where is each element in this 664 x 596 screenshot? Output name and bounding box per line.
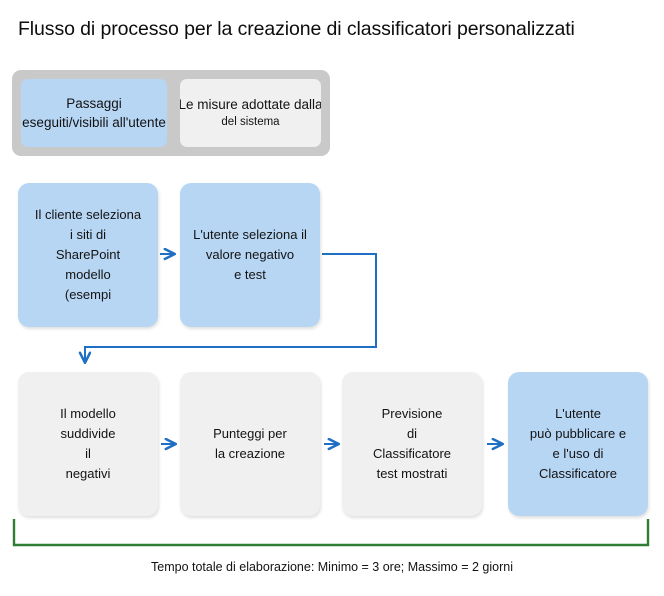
process-line: Classificatore (373, 444, 451, 464)
process-line: e test (234, 265, 266, 285)
process-line: la creazione (215, 444, 285, 464)
process-box-select-sites: Il cliente seleziona i siti di SharePoin… (18, 183, 158, 327)
process-line: può pubblicare e (530, 424, 626, 444)
process-line: Il modello (60, 404, 116, 424)
process-flow-diagram: Flusso di processo per la creazione di c… (0, 0, 664, 596)
legend-user-line-2: eseguiti/visibili all'utente (22, 113, 166, 132)
process-box-prediction: Previsione di Classificatore test mostra… (342, 372, 482, 516)
legend-item-system-steps: Le misure adottate dalla del sistema (180, 79, 321, 147)
process-line: il (85, 444, 91, 464)
total-time-caption: Tempo totale di elaborazione: Minimo = 3… (0, 560, 664, 574)
legend-system-line-2: del sistema (221, 114, 279, 131)
legend-user-line-1: Passaggi (66, 94, 122, 113)
process-box-scores: Punteggi per la creazione (180, 372, 320, 516)
process-line: modello (65, 265, 111, 285)
process-line: L'utente (555, 404, 601, 424)
process-line: L'utente seleziona il (193, 225, 307, 245)
process-line: e l'uso di (553, 444, 604, 464)
legend-system-line-1: Le misure adottate dalla (180, 95, 321, 114)
process-line: suddivide (61, 424, 116, 444)
legend-container: Passaggi eseguiti/visibili all'utente Le… (12, 70, 330, 156)
page-title: Flusso di processo per la creazione di c… (18, 18, 648, 41)
process-line: valore negativo (206, 245, 294, 265)
total-time-bracket (14, 519, 648, 545)
process-line: Classificatore (539, 464, 617, 484)
process-box-select-negative: L'utente seleziona il valore negativo e … (180, 183, 320, 327)
process-line: test mostrati (377, 464, 448, 484)
process-line: negativi (66, 464, 111, 484)
process-line: SharePoint (56, 245, 120, 265)
process-line: (esempi (65, 285, 111, 305)
process-line: di (407, 424, 417, 444)
process-line: i siti di (70, 225, 106, 245)
process-box-publish: L'utente può pubblicare e e l'uso di Cla… (508, 372, 648, 516)
process-line: Previsione (382, 404, 443, 424)
process-line: Punteggi per (213, 424, 287, 444)
legend-item-user-steps: Passaggi eseguiti/visibili all'utente (21, 79, 167, 147)
process-box-model-splits: Il modello suddivide il negativi (18, 372, 158, 516)
process-line: Il cliente seleziona (35, 205, 141, 225)
